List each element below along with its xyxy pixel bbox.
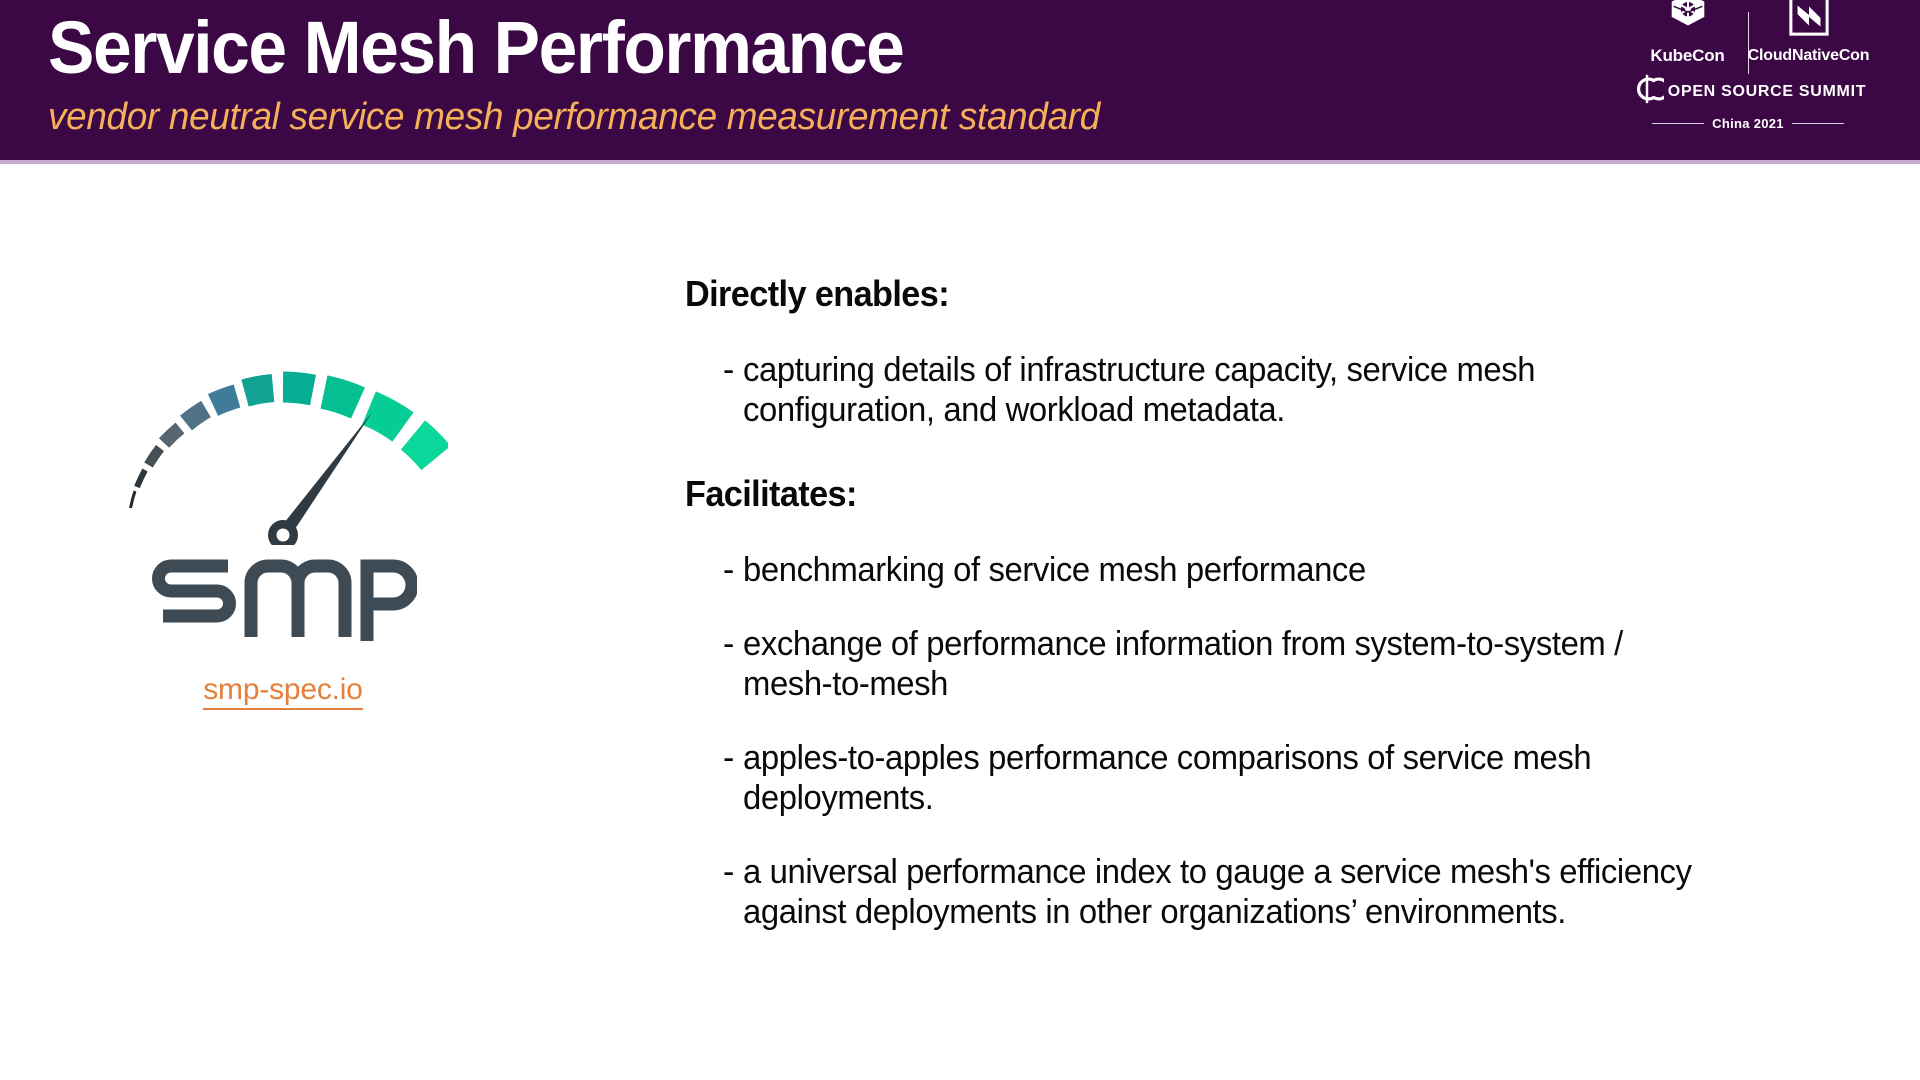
summit-year-label: China 2021 bbox=[1712, 116, 1784, 131]
page-title: Service Mesh Performance bbox=[48, 4, 1067, 92]
cloudnativecon-label: CloudNativeCon bbox=[1748, 46, 1870, 66]
smp-spec-link[interactable]: smp-spec.io bbox=[203, 673, 363, 710]
list-item: - apples-to-apples performance compariso… bbox=[685, 738, 1865, 818]
section-heading: Directly enables: bbox=[685, 272, 1806, 316]
slide-header-banner: Service Mesh Performance vendor neutral … bbox=[0, 0, 1920, 160]
content-column: Directly enables: - capturing details of… bbox=[685, 272, 1865, 932]
open-source-summit-s-icon bbox=[1630, 72, 1664, 111]
bullet-dash-icon: - bbox=[685, 624, 743, 664]
header-title-block: Service Mesh Performance vendor neutral … bbox=[48, 4, 1133, 140]
bullet-list: - benchmarking of service mesh performan… bbox=[685, 550, 1865, 932]
bullet-text: benchmarking of service mesh performance bbox=[743, 550, 1366, 590]
bullet-dash-icon: - bbox=[685, 738, 743, 778]
logo-divider bbox=[1748, 12, 1749, 74]
bullet-dash-icon: - bbox=[685, 550, 743, 590]
bullet-text: a universal performance index to gauge a… bbox=[743, 852, 1718, 932]
rule-right bbox=[1792, 123, 1844, 124]
smp-wordmark bbox=[118, 553, 448, 649]
cloudnativecon-logo: CloudNativeCon bbox=[1751, 0, 1867, 66]
conference-logo-lockup: KubeCon CloudNativeCon bbox=[1618, 8, 1878, 153]
open-source-summit-label: OPEN SOURCE SUMMIT bbox=[1668, 83, 1866, 101]
bullet-text: apples-to-apples performance comparisons… bbox=[743, 738, 1718, 818]
bullet-dash-icon: - bbox=[685, 350, 743, 390]
list-item: - benchmarking of service mesh performan… bbox=[685, 550, 1865, 590]
bullet-text: capturing details of infrastructure capa… bbox=[743, 350, 1718, 430]
bullet-dash-icon: - bbox=[685, 852, 743, 892]
list-item: - capturing details of infrastructure ca… bbox=[685, 350, 1865, 430]
section-facilitates: Facilitates: - benchmarking of service m… bbox=[685, 472, 1865, 932]
section-heading: Facilitates: bbox=[685, 472, 1806, 516]
summit-year-row: China 2021 bbox=[1618, 116, 1878, 131]
kubernetes-helm-icon bbox=[1665, 0, 1711, 42]
bullet-list: - capturing details of infrastructure ca… bbox=[685, 350, 1865, 430]
bullet-text: exchange of performance information from… bbox=[743, 624, 1718, 704]
header-accent-line bbox=[0, 160, 1920, 164]
page-subtitle: vendor neutral service mesh performance … bbox=[48, 94, 1100, 140]
speedometer-gauge-icon bbox=[118, 330, 448, 545]
section-directly-enables: Directly enables: - capturing details of… bbox=[685, 272, 1865, 430]
smp-logo-block: smp-spec.io bbox=[118, 330, 448, 710]
open-source-summit-row: OPEN SOURCE SUMMIT bbox=[1618, 72, 1878, 111]
logo-top-row: KubeCon CloudNativeCon bbox=[1618, 8, 1878, 66]
kubecon-logo: KubeCon bbox=[1630, 0, 1746, 66]
list-item: - exchange of performance information fr… bbox=[685, 624, 1865, 704]
list-item: - a universal performance index to gauge… bbox=[685, 852, 1865, 932]
rule-left bbox=[1652, 123, 1704, 124]
kubecon-label: KubeCon bbox=[1650, 46, 1724, 66]
cncf-square-icon bbox=[1788, 0, 1830, 42]
